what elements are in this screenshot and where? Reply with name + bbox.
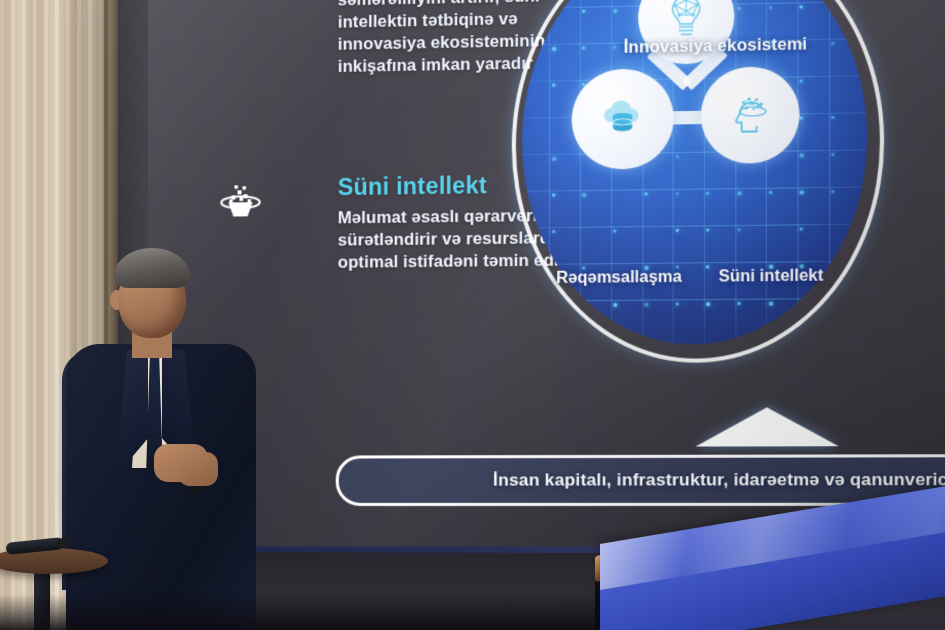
screenshot-root: Rəqəmsallaşma Xidmətlərin və proseslərin… (0, 0, 945, 630)
diagram-label-digitalization: Rəqəmsallaşma (556, 269, 682, 289)
diagram-label-ai: Süni intellekt (719, 267, 824, 286)
ai-brain-icon (218, 178, 262, 223)
diagram-label-innovation-ecosystem: İnnovasiya ekosistemi (624, 35, 807, 58)
diagram-base-bar-text: İnsan kapitalı, infrastruktur, idarəetmə… (493, 470, 945, 491)
ai-head-icon (725, 92, 775, 138)
presenter-hair (114, 248, 190, 288)
up-arrow-icon (696, 407, 839, 446)
diagram-base-bar: İnsan kapitalı, infrastruktur, idarəetmə… (336, 454, 945, 506)
presenter (66, 246, 256, 630)
cloud-database-icon (597, 96, 649, 142)
presenter-hand-right (178, 452, 218, 486)
floor-shadow (0, 594, 600, 630)
